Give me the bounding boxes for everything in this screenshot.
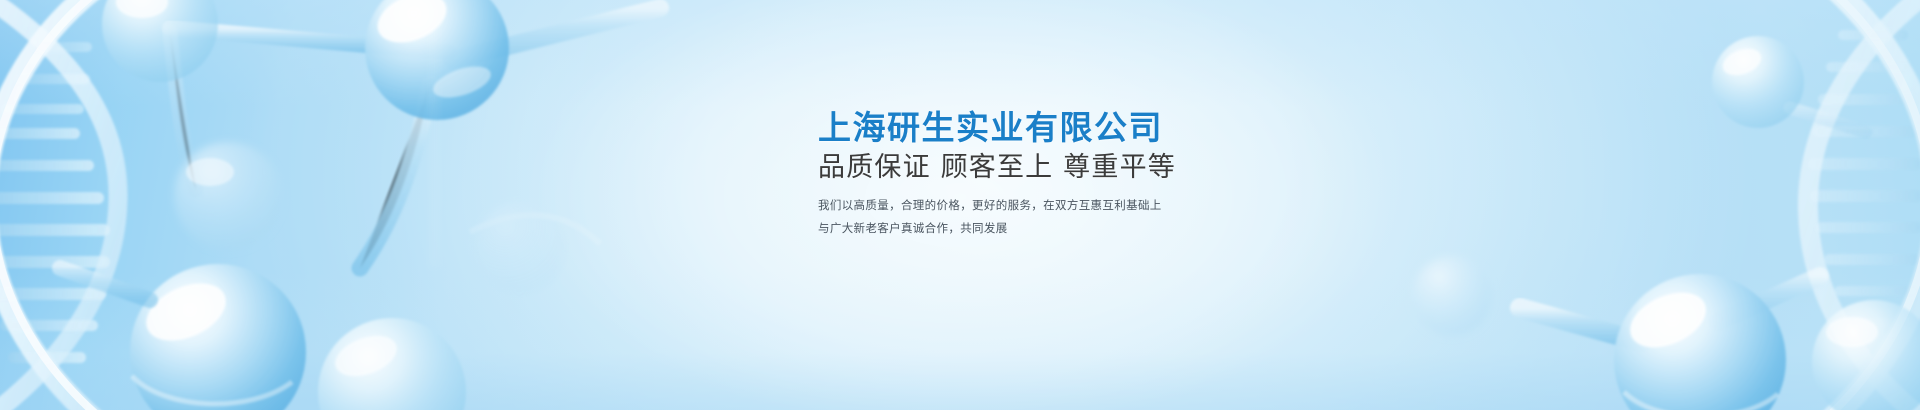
company-slogan: 品质保证 顾客至上 尊重平等 <box>818 151 1238 185</box>
company-description-line-1: 我们以高质量，合理的价格，更好的服务，在双方互惠互利基础上 <box>818 194 1238 216</box>
banner-text-block: 上海研生实业有限公司 品质保证 顾客至上 尊重平等 我们以高质量，合理的价格，更… <box>818 108 1238 239</box>
company-title: 上海研生实业有限公司 <box>818 108 1238 148</box>
company-hero-banner: 上海研生实业有限公司 品质保证 顾客至上 尊重平等 我们以高质量，合理的价格，更… <box>0 0 1920 410</box>
company-description-line-2: 与广大新老客户真诚合作，共同发展 <box>818 217 1238 239</box>
